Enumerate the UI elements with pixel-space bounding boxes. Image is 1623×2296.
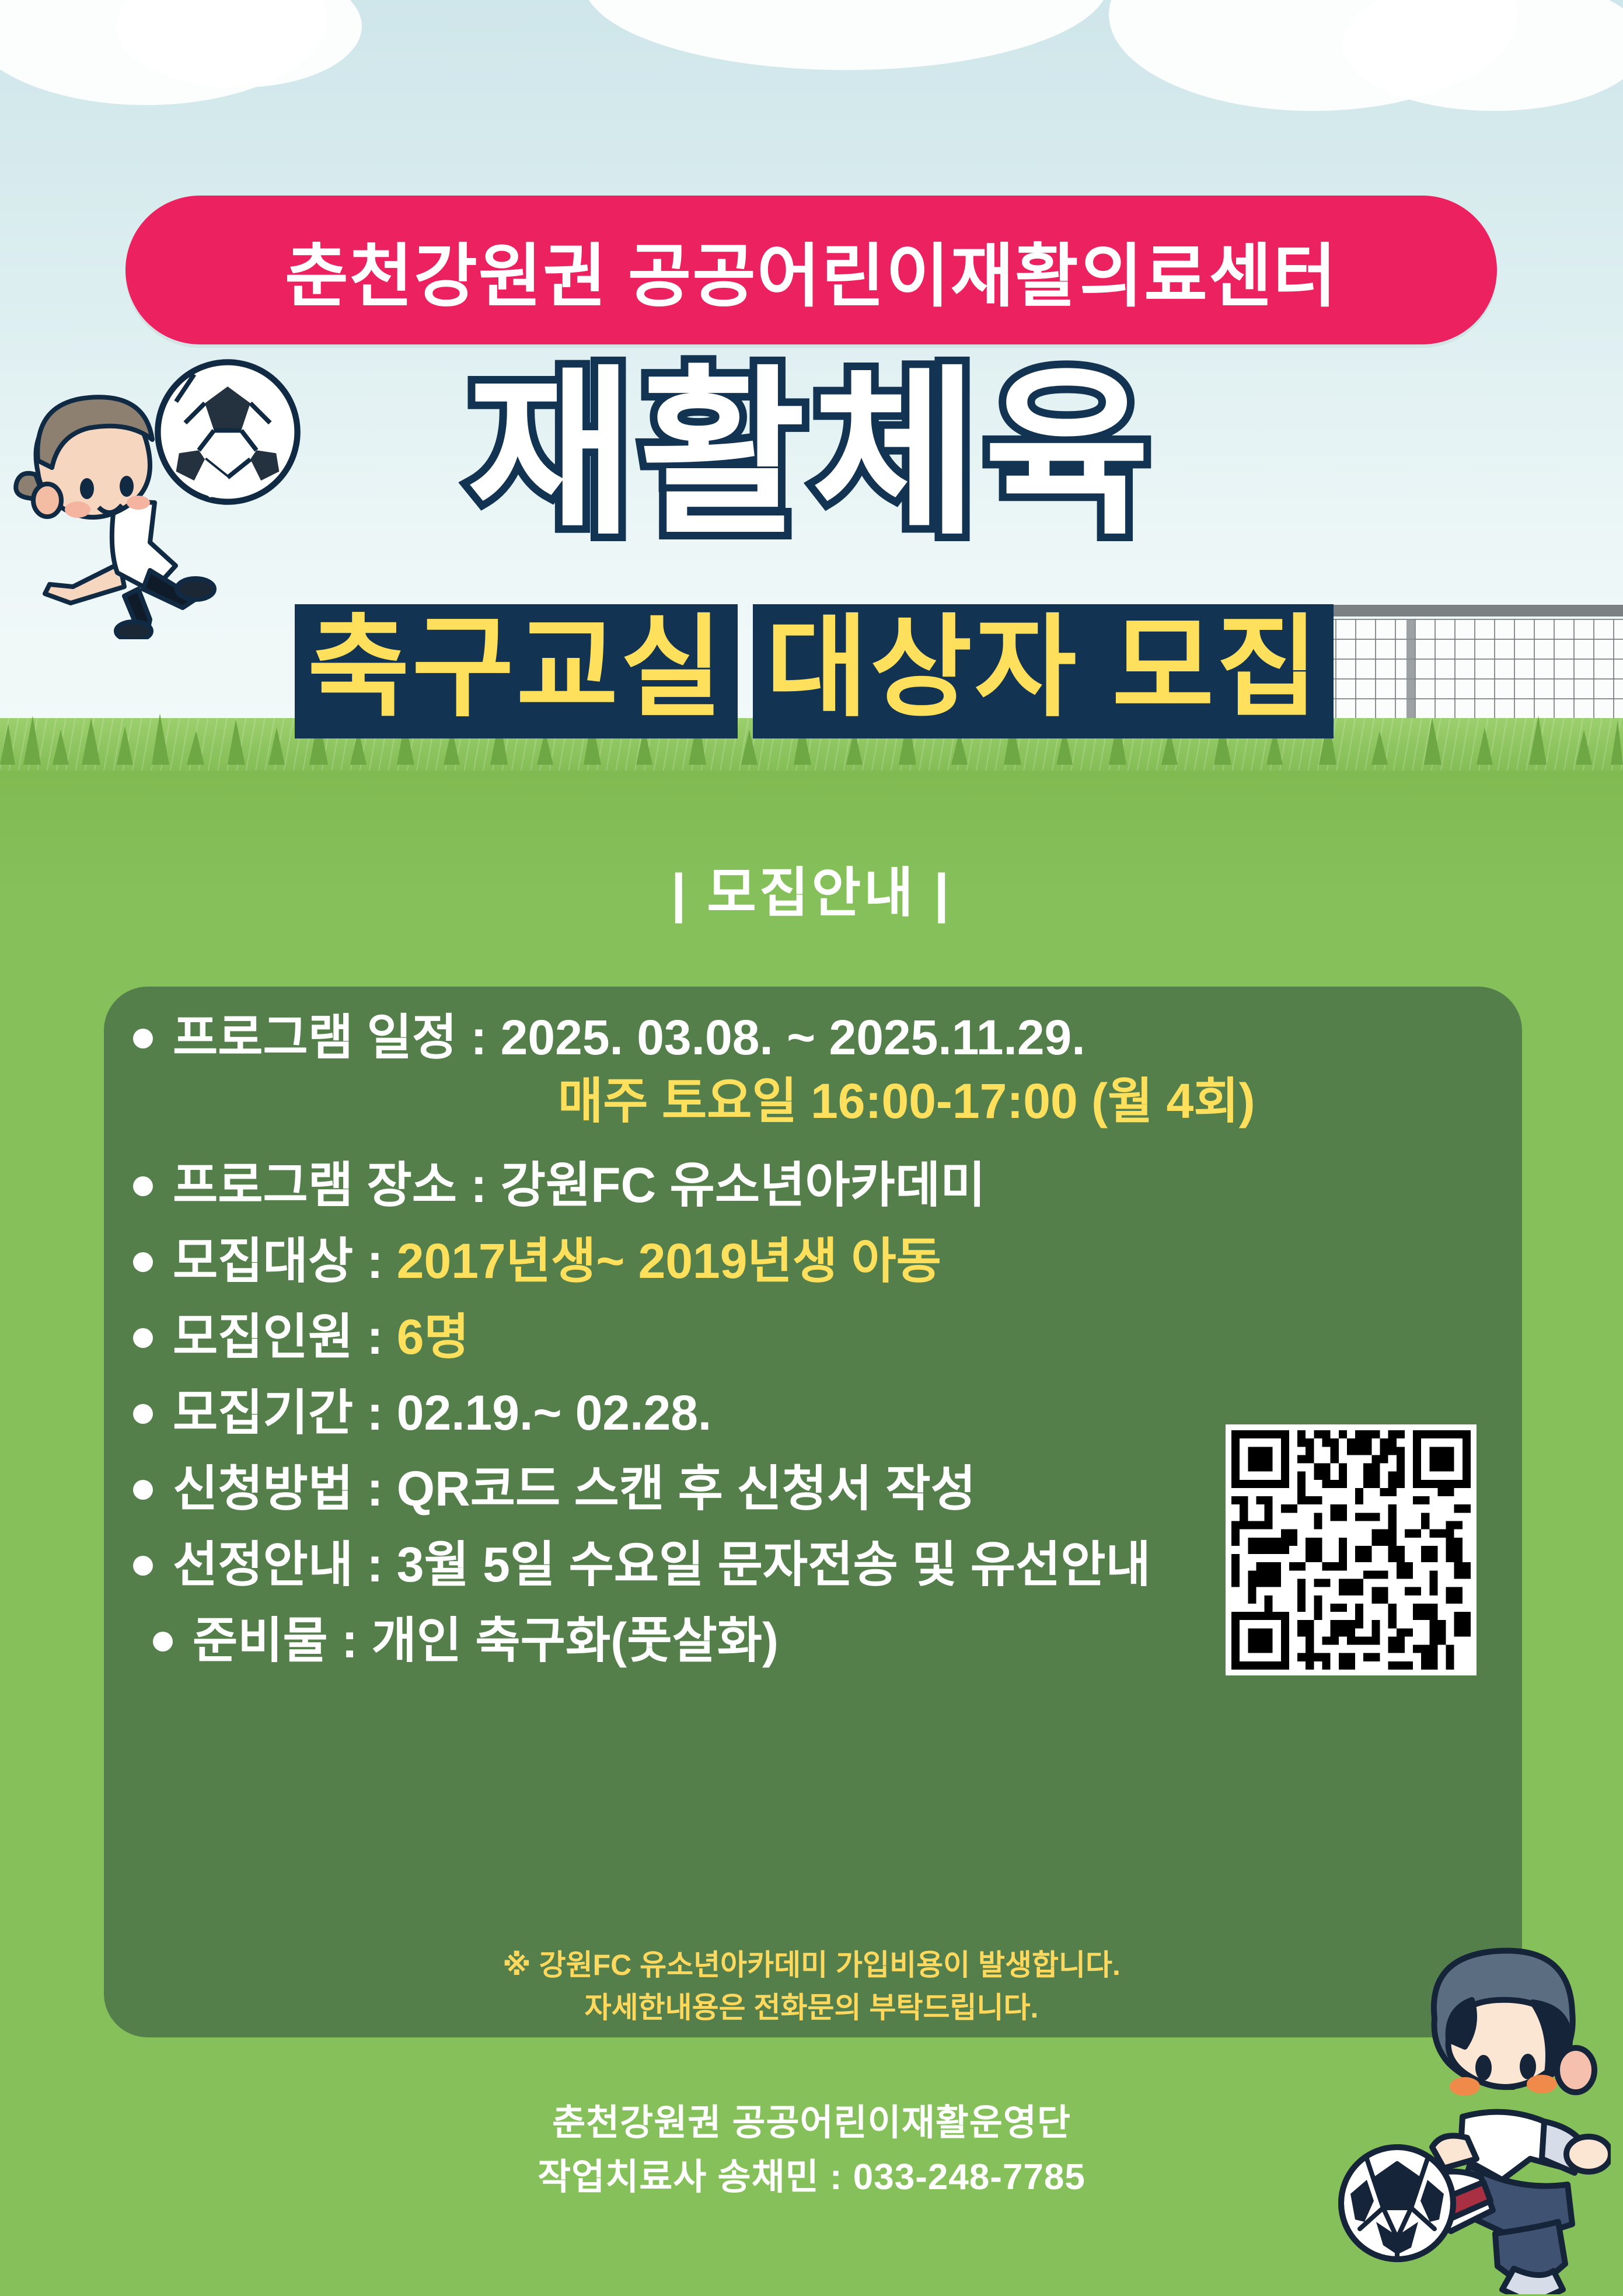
detail-item-label: 모집인원 : [173, 1309, 397, 1364]
subtitle-right: 대상자 모집 [753, 604, 1334, 738]
organization-banner: 춘천강원권 공공어린이재활의료센터 [125, 196, 1497, 344]
detail-item-label: 프로그램 일정 : [173, 1010, 501, 1065]
detail-item-text: 선정안내 : 3월 5일 수요일 문자전송 및 유선안내 [173, 1531, 1151, 1599]
subtitle-band: 축구교실 대상자 모집 [105, 604, 1523, 738]
detail-item-text: 모집기간 : 02.19.~ 02.28. [173, 1379, 711, 1447]
bullet-dot-icon [133, 1480, 153, 1500]
detail-item-value: 개인 축구화(풋살화) [372, 1613, 779, 1668]
bullet-dot-icon [133, 1328, 153, 1348]
detail-item-text: 신청방법 : QR코드 스캔 후 신청서 작성 [173, 1455, 976, 1523]
detail-item-label: 모집기간 : [173, 1385, 397, 1440]
detail-item-text: 프로그램 장소 : 강원FC 유소년아카데미 [173, 1152, 986, 1220]
qr-code[interactable] [1226, 1424, 1477, 1675]
detail-item-label: 모집대상 : [173, 1234, 397, 1288]
detail-item-value: 3월 5일 수요일 문자전송 및 유선안내 [397, 1537, 1151, 1592]
detail-item-text: 모집대상 : 2017년생~ 2019년생 아동 [173, 1228, 941, 1295]
section-heading: | 모집안내 | [0, 849, 1623, 927]
bullet-dot-icon [133, 1029, 153, 1048]
detail-item-value: 2017년생~ 2019년생 아동 [397, 1234, 941, 1288]
poster-root: 춘천강원권 공공어린이재활의료센터 [0, 0, 1623, 2296]
bullet-dot-icon [133, 1404, 153, 1424]
bullet-dot-icon [133, 1252, 153, 1272]
detail-item-label: 준비물 : [193, 1613, 372, 1668]
bullet-dot-icon [153, 1632, 173, 1652]
detail-item-text: 준비물 : 개인 축구화(풋살화) [193, 1607, 779, 1675]
detail-item-second-line: 매주 토요일 16:00-17:00 (월 4회) [558, 1069, 1255, 1133]
detail-item: 프로그램 일정 : 2025. 03.08. ~ 2025.11.29.매주 토… [133, 1004, 1493, 1144]
detail-item: 모집대상 : 2017년생~ 2019년생 아동 [133, 1228, 1493, 1295]
detail-item: 모집인원 : 6명 [133, 1304, 1493, 1371]
detail-item-value: 02.19.~ 02.28. [397, 1385, 711, 1440]
detail-item-label: 선정안내 : [173, 1537, 397, 1592]
detail-item-value: QR코드 스캔 후 신청서 작성 [397, 1461, 976, 1516]
detail-item: 프로그램 장소 : 강원FC 유소년아카데미 [133, 1152, 1493, 1220]
detail-item-value: 2025. 03.08. ~ 2025.11.29. [501, 1010, 1086, 1065]
detail-item-value: 6명 [397, 1309, 469, 1364]
detail-item-text: 프로그램 일정 : 2025. 03.08. ~ 2025.11.29. [173, 1004, 1255, 1072]
boy-kicking-ball-icon [1336, 1932, 1611, 2294]
page-title: 재활체육 [0, 362, 1623, 546]
organization-banner-label: 춘천강원권 공공어린이재활의료센터 [285, 220, 1338, 320]
bullet-dot-icon [133, 1176, 153, 1196]
subtitle-left: 축구교실 [295, 604, 738, 738]
detail-item-label: 프로그램 장소 : [173, 1158, 501, 1213]
detail-item-text: 모집인원 : 6명 [173, 1304, 469, 1371]
detail-item-label: 신청방법 : [173, 1461, 397, 1516]
qr-code-icon[interactable] [1231, 1430, 1471, 1670]
bullet-dot-icon [133, 1556, 153, 1576]
detail-item-value: 강원FC 유소년아카데미 [501, 1158, 986, 1213]
